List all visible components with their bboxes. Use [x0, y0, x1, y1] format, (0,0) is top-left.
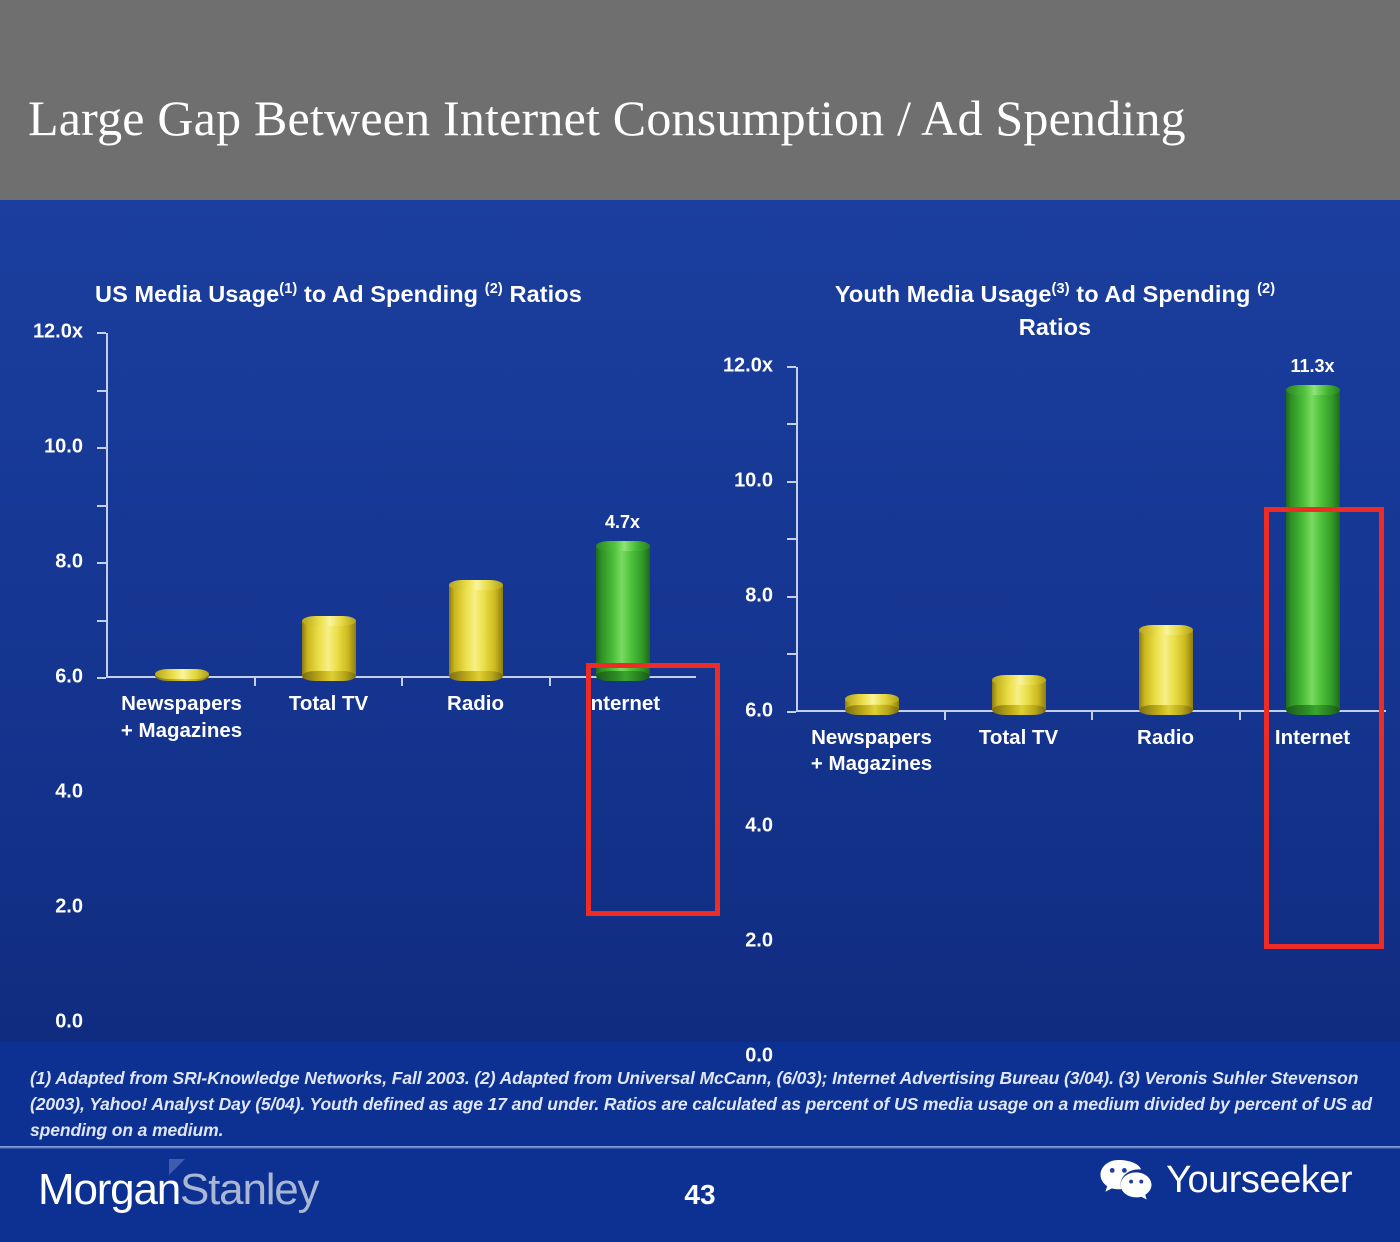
y-axis-tick-label: 4.0 — [745, 814, 773, 837]
x-axis-tick — [944, 712, 946, 720]
y-axis-tick: 8.0 — [787, 481, 796, 483]
x-axis-category-label: Newspapers + Magazines — [108, 691, 255, 744]
bar-value-label: 4.7x — [605, 512, 640, 533]
brand-name: Yourseeker — [1166, 1159, 1352, 1202]
bar-top-cap — [596, 541, 650, 551]
y-axis-tick: 2.0 — [787, 653, 796, 655]
y-axis-tick: 0.0 — [787, 711, 796, 713]
bar-top-cap — [449, 580, 503, 590]
y-axis-tick: 12.0x — [97, 332, 106, 334]
bar-top-cap — [302, 616, 356, 626]
y-axis-tick: 4.0 — [787, 596, 796, 598]
bar-slot: 4.7x — [549, 333, 696, 676]
footnote-ref-2: (2) — [1257, 281, 1275, 297]
slide-footer: MorganStanley 43 Yourseeker — [0, 1149, 1400, 1242]
x-axis-category-label: Newspapers + Magazines — [798, 725, 945, 778]
bar-total-tv — [302, 616, 356, 676]
bar-total-tv — [992, 675, 1046, 710]
chart-panel-youth-media: Youth Media Usage(3) to Ad Spending (2)R… — [710, 278, 1400, 767]
bar-top-cap — [845, 694, 899, 704]
bar-bottom-cap — [449, 671, 503, 681]
y-axis-tick: 6.0 — [97, 505, 106, 507]
brand-watermark: Yourseeker — [1098, 1157, 1352, 1203]
morgan-stanley-triangle-icon — [169, 1159, 185, 1175]
bar-bottom-cap — [845, 705, 899, 715]
chart-title-mid: to Ad Spending — [297, 281, 484, 307]
bar-slot — [255, 333, 402, 676]
bar-body — [596, 546, 650, 676]
chart-title-us-media: US Media Usage(1) to Ad Spending (2) Rat… — [20, 278, 710, 311]
bar-newspapers — [845, 694, 899, 710]
chart-title-youth-media: Youth Media Usage(3) to Ad Spending (2)R… — [710, 278, 1400, 345]
bar-bottom-cap — [1139, 705, 1193, 715]
bar-slot — [798, 367, 945, 710]
y-axis-tick-label: 0.0 — [55, 1011, 83, 1034]
y-axis-tick-label: 10.0 — [734, 469, 773, 492]
y-axis-tick-label: 8.0 — [745, 584, 773, 607]
y-axis-tick: 10.0 — [787, 423, 796, 425]
bar-radio — [449, 580, 503, 676]
y-axis-tick: 4.0 — [97, 562, 106, 564]
bar-value-label: 11.3x — [1290, 356, 1334, 377]
y-axis-tick: 12.0x — [787, 366, 796, 368]
y-axis-tick: 2.0 — [97, 620, 106, 622]
y-axis-tick-label: 12.0x — [723, 354, 773, 377]
chart-panel-us-media: US Media Usage(1) to Ad Spending (2) Rat… — [20, 278, 710, 733]
bar-top-cap — [992, 675, 1046, 685]
bar-chart-youth-media: 0.02.04.06.08.010.012.0x 11.3x Newspaper… — [710, 367, 1400, 767]
chart-title-end: Ratios — [503, 281, 582, 307]
bar-slot — [402, 333, 549, 676]
x-axis-tick — [401, 678, 403, 686]
y-axis-tick-label: 10.0 — [44, 436, 83, 459]
bar-bottom-cap — [992, 705, 1046, 715]
bar-bottom-cap — [302, 671, 356, 681]
x-axis-tick — [1239, 712, 1241, 720]
slide-body: US Media Usage(1) to Ad Spending (2) Rat… — [0, 200, 1400, 1042]
bar-bottom-cap — [1286, 705, 1340, 715]
x-axis-labels-youth-media: Newspapers + MagazinesTotal TVRadioInter… — [798, 725, 1386, 778]
bar-bottom-cap — [596, 671, 650, 681]
bar-radio — [1139, 625, 1193, 710]
y-axis-tick: 0.0 — [97, 677, 106, 679]
x-axis-category-label: Total TV — [255, 691, 402, 744]
bar-slot — [1092, 367, 1239, 710]
footnote-ref-3: (3) — [1052, 281, 1070, 297]
bar-slot: 11.3x — [1239, 367, 1386, 710]
slide-title: Large Gap Between Internet Consumption /… — [28, 92, 1378, 145]
x-axis-category-label: Internet — [1239, 725, 1386, 778]
x-axis-category-label: Radio — [1092, 725, 1239, 778]
bar-body — [1286, 390, 1340, 710]
chart-title-main: Youth Media Usage — [835, 281, 1052, 307]
chart-title-line2: Ratios — [1019, 314, 1091, 340]
plot-area-us-media: 0.02.04.06.08.010.012.0x 4.7x — [106, 333, 696, 678]
y-axis-tick-label: 6.0 — [745, 699, 773, 722]
chart-title-main: US Media Usage — [95, 281, 279, 307]
y-axis-tick-label: 2.0 — [745, 929, 773, 952]
y-axis-tick-label: 6.0 — [55, 666, 83, 689]
y-axis-tick: 10.0 — [97, 390, 106, 392]
bar-body — [449, 585, 503, 676]
footnote-text: (1) Adapted from SRI-Knowledge Networks,… — [30, 1066, 1375, 1144]
y-axis-tick-label: 4.0 — [55, 781, 83, 804]
bar-top-cap — [1286, 385, 1340, 395]
bar-internet: 4.7x — [596, 541, 650, 676]
x-axis-labels-us-media: Newspapers + MagazinesTotal TVRadioInter… — [108, 691, 696, 744]
plot-area-youth-media: 0.02.04.06.08.010.012.0x 11.3x — [796, 367, 1386, 712]
chart-title-mid: to Ad Spending — [1070, 281, 1257, 307]
y-axis-tick: 8.0 — [97, 447, 106, 449]
bar-top-cap — [155, 669, 209, 679]
bar-series-us-media: 4.7x — [108, 333, 696, 676]
bar-slot — [108, 333, 255, 676]
x-axis-tick — [254, 678, 256, 686]
bar-top-cap — [1139, 625, 1193, 635]
bar-series-youth-media: 11.3x — [798, 367, 1386, 710]
y-axis-tick-label: 8.0 — [55, 551, 83, 574]
wechat-icon — [1098, 1157, 1154, 1203]
bar-internet: 11.3x — [1286, 385, 1340, 710]
bar-body — [302, 621, 356, 676]
bar-slot — [945, 367, 1092, 710]
bar-chart-us-media: 0.02.04.06.08.010.012.0x 4.7x Newspapers… — [20, 333, 710, 733]
y-axis-tick: 6.0 — [787, 538, 796, 540]
bar-body — [1139, 630, 1193, 710]
y-axis-tick-label: 0.0 — [745, 1044, 773, 1067]
x-axis-tick — [549, 678, 551, 686]
x-axis-category-label: Radio — [402, 691, 549, 744]
x-axis-tick — [1091, 712, 1093, 720]
footnote-ref-2: (2) — [485, 281, 503, 297]
bar-newspapers — [155, 669, 209, 676]
x-axis-category-label: Total TV — [945, 725, 1092, 778]
footnote-ref-1: (1) — [279, 281, 297, 297]
y-axis-tick-label: 2.0 — [55, 896, 83, 919]
y-axis-tick-label: 12.0x — [33, 321, 83, 344]
x-axis-category-label: Internet — [549, 691, 696, 744]
